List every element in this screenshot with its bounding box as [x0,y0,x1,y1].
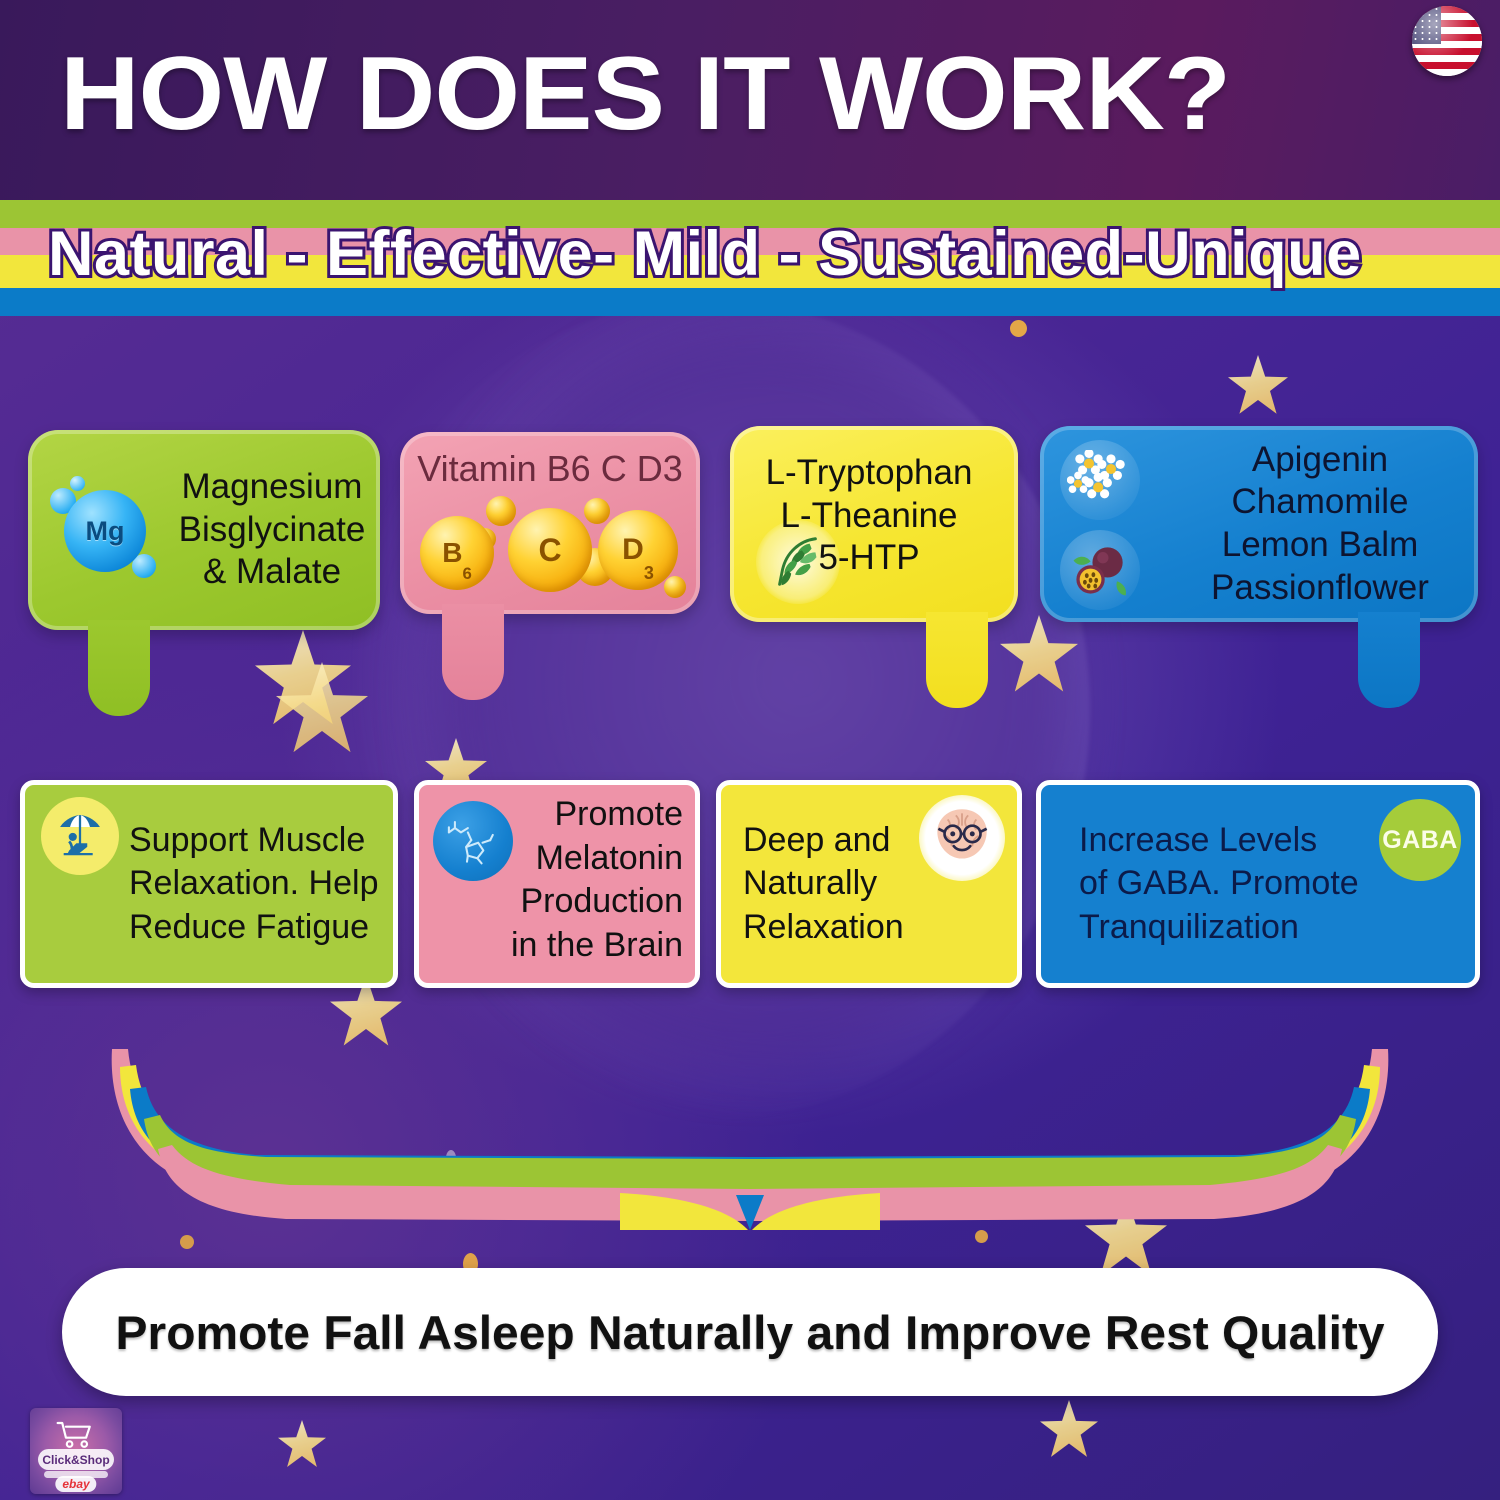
text-line: Support Muscle [129,819,387,863]
text-line: Apigenin [1170,439,1470,482]
card-melatonin-text: Promote Melatonin Production in the Brai… [419,793,683,967]
text-line: Relaxation [743,906,939,950]
card-deep-relaxation[interactable]: Deep and Naturally Relaxation [716,780,1022,988]
bubble-herbals-text: Apigenin Chamomile Lemon Balm Passionflo… [1170,439,1470,610]
ribbon-band-blue [0,288,1500,316]
ingredient-bubbles-row: Mg Magnesium Bisglycinate & Malate Vitam… [0,420,1500,720]
drop-sub: 6 [462,564,471,584]
smiling-brain-icon [919,795,1005,881]
text-line: 5-HTP [730,537,1008,580]
text-line: Passionflower [1170,567,1470,610]
beach-lounger-icon [41,797,119,875]
tagline-text: Natural - Effective- Mild - Sustained-Un… [48,218,1362,290]
text-line: Bisglycinate [174,509,370,552]
decorative-star [1040,1400,1098,1458]
decorative-dot [1010,320,1027,337]
card-muscle-relaxation-text: Support Muscle Relaxation. Help Reduce F… [129,819,387,950]
decorative-dot [975,1230,988,1243]
chamomile-flowers-icon [1060,440,1140,520]
card-gaba-text: Increase Levels of GABA. Promote Tranqui… [1079,819,1425,950]
card-gaba[interactable]: GABA Increase Levels of GABA. Promote Tr… [1036,780,1480,988]
card-muscle-relaxation[interactable]: Support Muscle Relaxation. Help Reduce F… [20,780,398,988]
watermark-marketplace: ebay [55,1476,96,1492]
decorative-dot [180,1235,194,1249]
bubble-aminoacids[interactable]: L-Tryptophan L-Theanine 5-HTP [730,426,1018,622]
bottom-banner-text: Promote Fall Asleep Naturally and Improv… [115,1305,1384,1360]
text-line: Relaxation. Help [129,862,387,906]
drop-label: D [622,533,644,567]
magnesium-molecule-icon: Mg [50,476,158,584]
bubble-magnesium-text: Magnesium Bisglycinate & Malate [174,466,370,594]
text-line: L-Theanine [730,495,1008,538]
poster-canvas: HOW DOES IT WORK? Natural - Effective- M… [0,0,1500,1500]
bubble-magnesium[interactable]: Mg Magnesium Bisglycinate & Malate [28,430,380,630]
bubble-vitamins[interactable]: Vitamin B6 C D3 B6 C D3 [400,432,700,614]
bottom-banner: Promote Fall Asleep Naturally and Improv… [62,1268,1438,1396]
decorative-star [1228,355,1288,415]
text-line: Naturally [743,862,939,906]
magnesium-symbol: Mg [64,490,146,572]
vitamin-drop-d3: D3 [598,510,678,590]
watermark-brand: Click&Shop [38,1449,114,1470]
bubble-tail [442,604,504,700]
bubble-vitamins-heading: Vitamin B6 C D3 [400,448,700,490]
card-melatonin[interactable]: Promote Melatonin Production in the Brai… [414,780,700,988]
text-line: of GABA. Promote [1079,862,1425,906]
us-flag-icon [1412,6,1482,76]
bubble-herbals[interactable]: Apigenin Chamomile Lemon Balm Passionflo… [1040,426,1478,622]
bubble-tail [88,620,150,716]
header-bar: HOW DOES IT WORK? [0,0,1500,200]
drop-label: B [442,537,462,569]
bubble-tail [926,612,988,708]
text-line: Melatonin [419,837,683,881]
passionfruit-icon [1060,530,1140,610]
text-line: Production [419,880,683,924]
text-line: Magnesium [174,466,370,509]
gaba-badge-icon: GABA [1379,799,1461,881]
drop-label: C [538,532,561,569]
text-line: in the Brain [419,924,683,968]
text-line: & Malate [174,551,370,594]
text-line: Increase Levels [1079,819,1425,863]
decorative-star [278,1420,326,1468]
card-deep-relaxation-text: Deep and Naturally Relaxation [743,819,939,950]
bubble-tail [1358,612,1420,708]
vitamin-droplets-icon: B6 C D3 [412,494,692,602]
tagline-ribbon: Natural - Effective- Mild - Sustained-Un… [0,200,1500,316]
text-line: Promote [419,793,683,837]
drop-sub: 3 [644,563,654,584]
benefit-cards-row: Support Muscle Relaxation. Help Reduce F… [0,780,1500,990]
page-title: HOW DOES IT WORK? [60,42,1230,146]
wing-ribbon [0,1045,1500,1230]
vitamin-drop-c: C [508,508,592,592]
text-line: Chamomile [1170,481,1470,524]
click-and-shop-watermark: Click&Shop ebay [30,1408,122,1494]
text-line: Lemon Balm [1170,524,1470,567]
text-line: Tranquilization [1079,906,1425,950]
bubble-aminoacids-text: L-Tryptophan L-Theanine 5-HTP [730,452,1008,580]
text-line: Reduce Fatigue [129,906,387,950]
text-line: Deep and [743,819,939,863]
text-line: L-Tryptophan [730,452,1008,495]
vitamin-drop-b6: B6 [420,516,494,590]
